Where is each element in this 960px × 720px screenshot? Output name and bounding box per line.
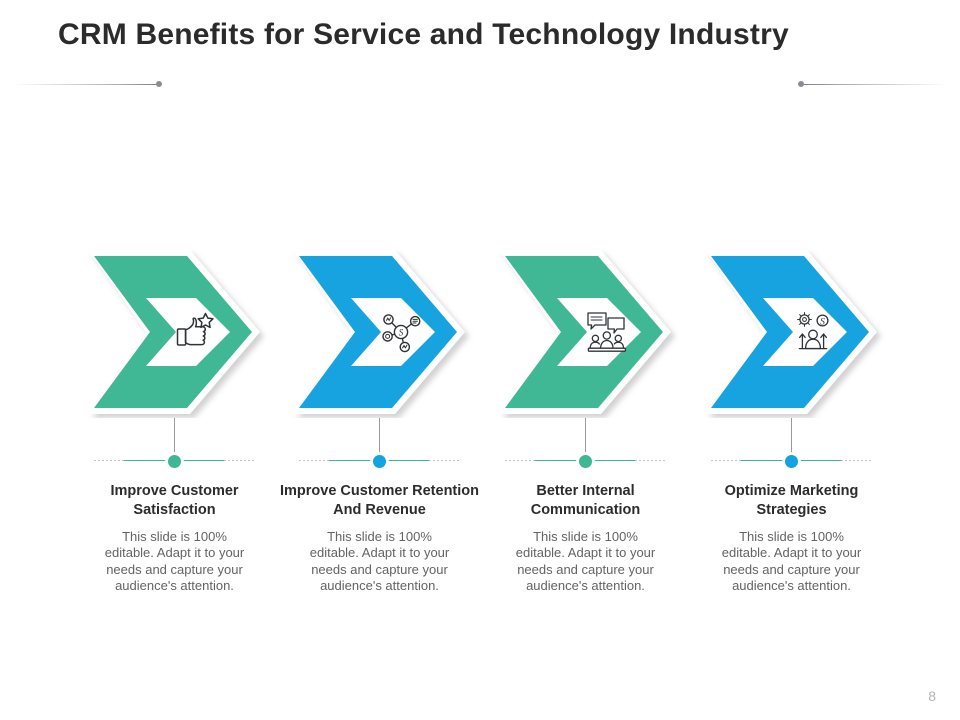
connector-dots-right-2 xyxy=(429,460,461,461)
rule-dot-left-icon xyxy=(156,81,162,87)
connector-dots-left-1 xyxy=(94,460,126,461)
thumbs-up-star-icon xyxy=(168,304,224,360)
connector-stem-3 xyxy=(585,418,586,454)
svg-text:S: S xyxy=(820,317,825,327)
benefit-body-3: This slide is 100% editable. Adapt it to… xyxy=(516,529,656,595)
connector-dots-left-3 xyxy=(505,460,537,461)
benefit-heading-3: Better Internal Communication xyxy=(486,482,686,521)
dollar-network-icon: S xyxy=(373,304,429,360)
benefit-body-1: This slide is 100% editable. Adapt it to… xyxy=(105,529,245,595)
connector-dots-left-4 xyxy=(711,460,743,461)
benefit-heading-4: Optimize Marketing Strategies xyxy=(692,482,892,521)
benefit-heading-2: Improve Customer Retention And Revenue xyxy=(280,482,480,521)
chevron-graphic-3 xyxy=(491,246,681,418)
benefits-row: Improve Customer Satisfaction This slide… xyxy=(0,246,960,595)
benefit-body-4: This slide is 100% editable. Adapt it to… xyxy=(722,529,862,595)
chevron-graphic-1 xyxy=(80,246,270,418)
connector-node-1 xyxy=(168,455,181,468)
chevron-graphic-4: S xyxy=(697,246,887,418)
chevron-graphic-2: S xyxy=(285,246,475,418)
connector-dots-right-1 xyxy=(224,460,256,461)
page-title: CRM Benefits for Service and Technology … xyxy=(58,18,908,52)
connector-bar-2 xyxy=(299,454,461,468)
connector-dots-right-4 xyxy=(841,460,873,461)
connector-stem-4 xyxy=(791,418,792,454)
decorative-rule-right xyxy=(804,84,948,85)
benefit-column-3[interactable]: Better Internal Communication This slide… xyxy=(483,246,688,595)
connector-dots-right-3 xyxy=(635,460,667,461)
connector-node-4 xyxy=(785,455,798,468)
svg-text:S: S xyxy=(398,328,403,338)
person-gear-dollar-growth-icon: S xyxy=(785,304,841,360)
connector-node-3 xyxy=(579,455,592,468)
decorative-rule-left xyxy=(14,84,158,85)
connector-stem-1 xyxy=(174,418,175,454)
connector-bar-3 xyxy=(505,454,667,468)
connector-dots-left-2 xyxy=(299,460,331,461)
benefit-column-1[interactable]: Improve Customer Satisfaction This slide… xyxy=(72,246,277,595)
connector-stem-2 xyxy=(379,418,380,454)
connector-bar-1 xyxy=(94,454,256,468)
team-speech-bubbles-icon xyxy=(579,304,635,360)
rule-dot-right-icon xyxy=(798,81,804,87)
benefit-body-2: This slide is 100% editable. Adapt it to… xyxy=(310,529,450,595)
benefit-column-4[interactable]: S Optimize Marketing Strategies This sl xyxy=(689,246,894,595)
slide-canvas: CRM Benefits for Service and Technology … xyxy=(0,0,960,720)
connector-node-2 xyxy=(373,455,386,468)
benefit-column-2[interactable]: S Impr xyxy=(277,246,482,595)
connector-bar-4 xyxy=(711,454,873,468)
benefit-heading-1: Improve Customer Satisfaction xyxy=(75,482,275,521)
page-number: 8 xyxy=(928,688,936,704)
